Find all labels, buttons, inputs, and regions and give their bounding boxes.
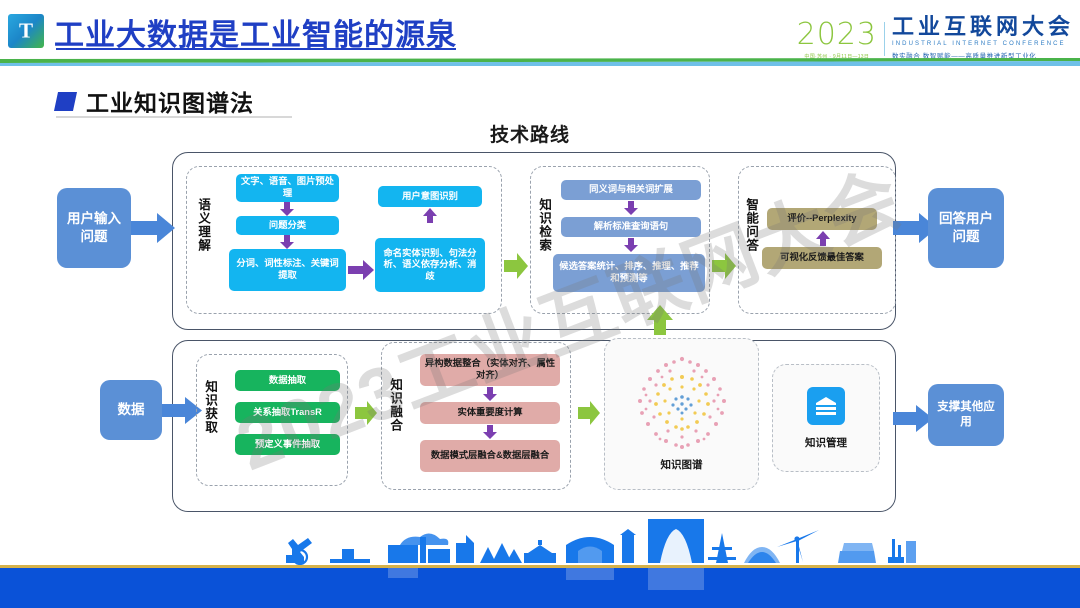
conference-year: 2023 [797,20,877,50]
node-support-other-applications[interactable]: 支撑其他应用 [928,384,1004,446]
arrow-fusion-to-graph-icon [578,401,600,425]
group-intelligent-qa-label: 智能问答 [744,198,757,252]
card-knowledge-management-label: 知识管理 [773,435,879,450]
title-underline [56,48,456,50]
knowledge-graph-visual [622,351,742,464]
arrow-input-to-semantic-icon [131,212,175,244]
node-parse-standard-query[interactable]: 解析标准查询语句 [561,217,701,237]
node-label: 关系抽取TransR [253,407,322,419]
knowledge-management-icon [807,387,845,425]
node-label: 实体重要度计算 [457,407,522,419]
node-label: 可视化反馈最佳答案 [780,252,864,264]
header-accent-bar [0,58,1080,66]
node-ner-syntax-semantic-dependency[interactable]: 命名实体识别、句法分析、语义依存分析、消歧 [375,238,485,292]
node-label: 解析标准查询语句 [594,221,668,233]
node-label: 评价--Perplexity [787,213,856,225]
arrow-integration-to-importance-icon [483,387,497,401]
node-label: 同义词与相关词扩展 [589,184,673,196]
arrow-ner-to-intent-icon [423,208,437,223]
group-knowledge-retrieval-label: 知识检索 [537,198,550,252]
arrow-synonym-to-parse-icon [624,201,638,215]
node-apps-label: 支撑其他应用 [934,400,998,430]
node-data-extraction[interactable]: 数据抽取 [235,370,340,391]
node-candidate-answer-ranking[interactable]: 候选答案统计、排序、推理、推荐和预测等 [553,254,705,292]
node-synonym-expansion[interactable]: 同义词与相关词扩展 [561,180,701,200]
group-knowledge-fusion-label: 知识融合 [388,378,401,432]
node-relation-extraction-transr[interactable]: 关系抽取TransR [235,402,340,423]
node-entity-importance-calculation[interactable]: 实体重要度计算 [420,402,560,424]
node-label: 问题分类 [269,220,306,232]
arrow-classify-to-segmentation-icon [280,235,294,249]
footer-reflection-icon [0,568,1080,608]
city-skyline-icon [0,517,1080,565]
arrow-graph-to-retrieval-icon [647,305,673,335]
arrow-parse-to-ranking-icon [624,238,638,252]
node-user-intent-recognition[interactable]: 用户意图识别 [378,186,482,207]
group-semantic-understanding-label: 语义理解 [196,198,209,252]
arrow-acquisition-to-fusion-icon [355,401,377,425]
page-header: T 工业大数据是工业智能的源泉 2023 中国·苏州 · 9月11日—13日 工… [0,0,1080,62]
node-label: 数据抽取 [269,375,306,387]
node-answer-user-question[interactable]: 回答用户问题 [928,188,1004,268]
radial-graph-icon [622,351,742,459]
node-evaluation-perplexity[interactable]: 评价--Perplexity [767,208,877,230]
page-footer [0,518,1080,608]
node-word-segmentation-pos-keyword[interactable]: 分词、词性标注、关键词提取 [229,249,346,291]
conference-logo: 2023 中国·苏州 · 9月11日—13日 工业互联网大会 INDUSTRIA… [797,8,1074,60]
node-heterogeneous-data-integration[interactable]: 异构数据整合（实体对齐、属性对齐） [420,354,560,386]
node-user-input[interactable]: 用户输入问题 [57,188,131,268]
node-data-label: 数据 [118,401,145,419]
card-knowledge-graph-label: 知识图谱 [605,457,758,472]
node-label: 分词、词性标注、关键词提取 [233,258,342,281]
node-label: 数据模式层融合&数据层融合 [431,450,549,462]
arrow-importance-to-schema-fusion-icon [483,425,497,439]
node-label: 预定义事件抽取 [255,439,320,451]
technology-roadmap-diagram: 技术路线 用户输入问题 语义理解 文字、语音、图片预处理 问题分类 分词、词性标… [0,112,1080,532]
node-label: 候选答案统计、排序、推理、推荐和预测等 [557,261,701,284]
arrow-preprocess-to-classify-icon [280,202,294,216]
arrow-semantic-to-retrieval-icon [504,253,528,279]
brand-logo-glyph: T [19,19,33,44]
footer-blue-band [0,568,1080,608]
card-knowledge-management[interactable]: 知识管理 [772,364,880,472]
node-schema-and-data-layer-fusion[interactable]: 数据模式层融合&数据层融合 [420,440,560,472]
node-label: 异构数据整合（实体对齐、属性对齐） [424,358,556,381]
conference-name-cn: 工业互联网大会 [892,16,1074,38]
node-predefined-event-extraction[interactable]: 预定义事件抽取 [235,434,340,455]
arrow-to-other-applications-icon [893,404,933,433]
brand-logo-icon: T [8,14,44,48]
node-label: 用户意图识别 [402,191,458,203]
node-answer-label: 回答用户问题 [934,210,998,245]
node-text-speech-image-preprocess[interactable]: 文字、语音、图片预处理 [236,174,339,202]
logo-divider [884,22,885,56]
section-marker-icon [54,92,77,111]
diagram-title: 技术路线 [490,120,570,147]
node-data-input[interactable]: 数据 [100,380,162,440]
arrow-feedback-to-evaluation-icon [816,231,830,246]
node-label: 命名实体识别、句法分析、语义依存分析、消歧 [379,248,481,283]
conference-name-en: INDUSTRIAL INTERNET CONFERENCE [892,41,1066,47]
node-question-classification[interactable]: 问题分类 [236,216,339,235]
arrow-retrieval-to-qa-icon [712,253,736,279]
arrow-segmentation-to-ner-icon [348,260,374,280]
node-visual-feedback-best-answer[interactable]: 可视化反馈最佳答案 [762,247,882,269]
group-knowledge-acquisition-label: 知识获取 [203,380,216,434]
node-label: 文字、语音、图片预处理 [240,176,335,199]
archive-box-icon [814,394,838,418]
node-user-input-label: 用户输入问题 [63,210,125,245]
card-knowledge-graph[interactable]: 知识图谱 [604,338,759,490]
